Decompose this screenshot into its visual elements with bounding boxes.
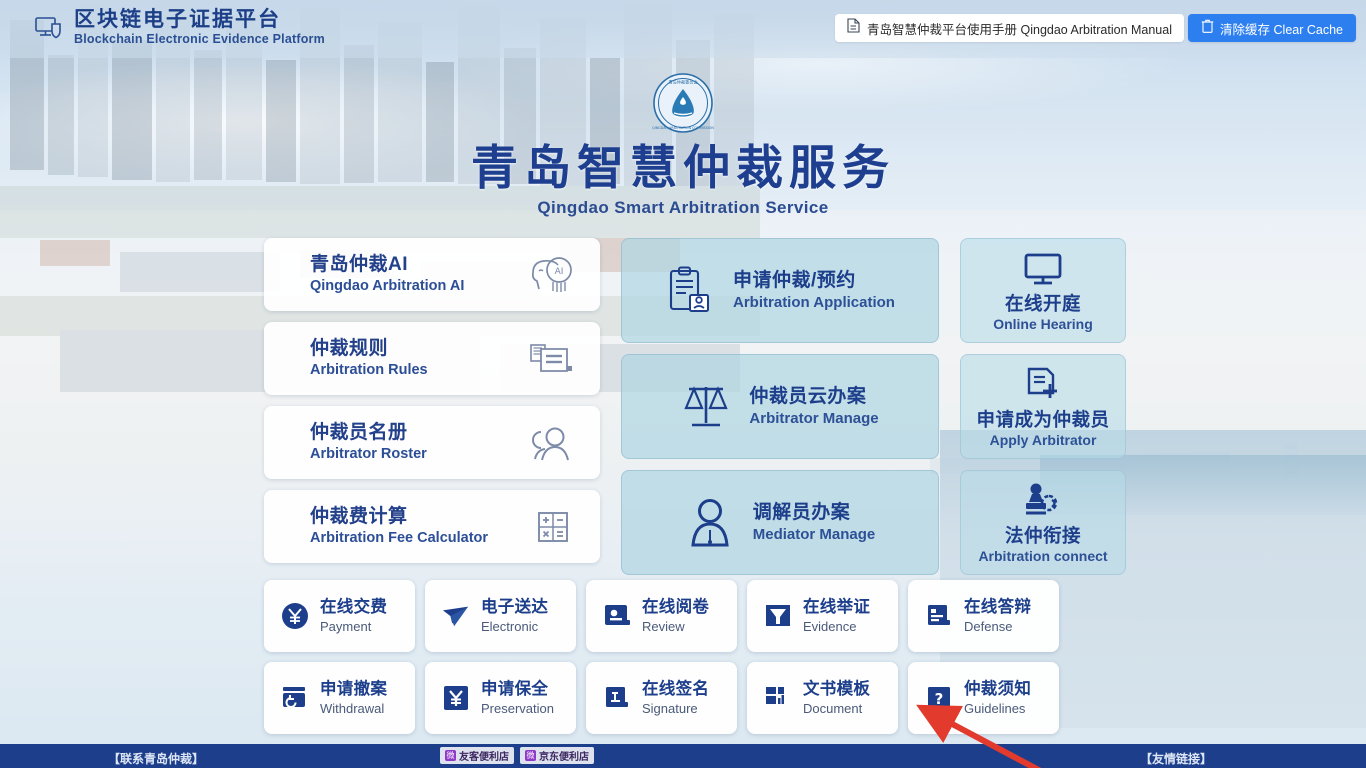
card-title-cn: 在线交费 [320, 598, 387, 616]
card-title-en: Arbitration Rules [310, 362, 428, 378]
card-title-en: Arbitration connect [978, 547, 1107, 565]
card-title-en: Arbitrator Roster [310, 446, 427, 462]
card-arbitration-application[interactable]: 申请仲裁/预约 Arbitration Application [621, 238, 939, 343]
footer-chip-label: 友客便利店 [459, 748, 509, 763]
file-review-icon [603, 602, 631, 630]
svg-text:?: ? [935, 690, 944, 708]
manual-button[interactable]: 青岛智慧仲裁平台使用手册 Qingdao Arbitration Manual [835, 14, 1184, 42]
card-arbitrator-manage[interactable]: 仲裁员云办案 Arbitrator Manage [621, 354, 939, 459]
card-arbitrator-roster[interactable]: 仲裁员名册 Arbitrator Roster [264, 406, 600, 479]
brand-title-en: Blockchain Electronic Evidence Platform [74, 31, 325, 47]
card-title-en: Preservation [481, 701, 554, 716]
card-title-cn: 仲裁员云办案 [749, 386, 866, 407]
card-title-en: Document [803, 701, 862, 716]
yuan-circle-icon [281, 602, 309, 630]
card-title-en: Evidence [803, 619, 856, 634]
card-arbitration-rules[interactable]: 仲裁规则 Arbitration Rules [264, 322, 600, 395]
card-qingdao-arbitration-ai[interactable]: 青岛仲裁AI Qingdao Arbitration AI AI [264, 238, 600, 311]
quick-action-row-2: 申请撤案 Withdrawal 申请保全 Preservatio [264, 662, 1109, 734]
mediator-person-icon [685, 497, 735, 549]
question-mark-icon: ? [925, 684, 953, 712]
clear-cache-button[interactable]: 清除缓存 Clear Cache [1188, 14, 1356, 42]
card-title-cn: 申请仲裁/预约 [733, 270, 856, 291]
card-title-en: Signature [642, 701, 698, 716]
left-card-column: 青岛仲裁AI Qingdao Arbitration AI AI [264, 238, 600, 574]
svg-text:QINGDAO ARBITRATION COMMISSION: QINGDAO ARBITRATION COMMISSION [652, 126, 714, 130]
document-icon [847, 18, 860, 38]
app-root: 区块链电子证据平台 Blockchain Electronic Evidence… [0, 0, 1366, 768]
card-title-en: Arbitration Application [733, 294, 895, 311]
card-title-en: Apply Arbitrator [990, 431, 1097, 449]
card-evidence[interactable]: 在线举证 Evidence [747, 580, 898, 652]
card-title-cn: 在线答辩 [964, 598, 1031, 616]
card-title-cn: 调解员办案 [753, 502, 851, 523]
brand-text: 区块链电子证据平台 Blockchain Electronic Evidence… [74, 8, 325, 47]
page-title-cn: 青岛智慧仲裁服务 [0, 142, 1366, 194]
footer-chip-row: 微 友客便利店 微 京东便利店 [440, 747, 594, 764]
card-title-en: Defense [964, 619, 1012, 634]
clear-cache-label: 清除缓存 Clear Cache [1220, 19, 1343, 38]
card-title-en: Withdrawal [320, 701, 384, 716]
page-title-en: Qingdao Smart Arbitration Service [0, 198, 1366, 218]
card-title-cn: 电子送达 [481, 598, 548, 616]
people-roster-icon [526, 422, 578, 464]
card-title-cn: 仲裁须知 [964, 680, 1031, 698]
clipboard-stamp-icon [665, 265, 715, 317]
card-title-cn: 在线签名 [642, 680, 709, 698]
manual-button-label: 青岛智慧仲裁平台使用手册 Qingdao Arbitration Manual [867, 19, 1172, 38]
monitor-icon [1021, 248, 1065, 288]
brand: 区块链电子证据平台 Blockchain Electronic Evidence… [34, 8, 325, 47]
footer-contact-label[interactable]: 【联系青岛仲裁】 [108, 750, 204, 767]
card-title-en: Payment [320, 619, 371, 634]
card-title-en: Review [642, 619, 685, 634]
footer-bar: 【联系青岛仲裁】 微 友客便利店 微 京东便利店 【友情链接】 [0, 744, 1366, 768]
right-card-column: 在线开庭 Online Hearing 申请成为仲裁员 Apply Arbitr… [960, 238, 1126, 586]
card-payment[interactable]: 在线交费 Payment [264, 580, 415, 652]
document-plus-icon [1023, 364, 1063, 404]
card-mediator-manage[interactable]: 调解员办案 Mediator Manage [621, 470, 939, 575]
card-preservation[interactable]: 申请保全 Preservation [425, 662, 576, 734]
app-header: 区块链电子证据平台 Blockchain Electronic Evidence… [0, 0, 1366, 58]
card-title-cn: 青岛仲裁AI [310, 254, 408, 275]
card-arbitration-connect[interactable]: 法仲衔接 Arbitration connect [960, 470, 1126, 575]
card-title-cn: 申请成为仲裁员 [976, 408, 1109, 431]
stamp-link-icon [1021, 480, 1065, 520]
middle-card-column: 申请仲裁/预约 Arbitration Application 仲裁员云办案 [621, 238, 939, 586]
card-title-en: Arbitrator Manage [749, 410, 878, 427]
card-document-template[interactable]: 文书模板 Document [747, 662, 898, 734]
card-title-en: Electronic [481, 619, 538, 634]
card-title-cn: 申请撤案 [320, 680, 387, 698]
card-title-cn: 申请保全 [481, 680, 548, 698]
qingdao-arbitration-commission-seal: 青岛仲裁委员会 QINGDAO ARBITRATION COMMISSION [652, 72, 714, 134]
card-signature[interactable]: 在线签名 Signature [586, 662, 737, 734]
calculator-icon [526, 506, 578, 548]
card-withdrawal[interactable]: 申请撤案 Withdrawal [264, 662, 415, 734]
card-guidelines[interactable]: ? 仲裁须知 Guidelines [908, 662, 1059, 734]
card-defense[interactable]: 在线答辩 Defense [908, 580, 1059, 652]
funnel-evidence-icon [764, 602, 792, 630]
card-title-en: Qingdao Arbitration AI [310, 278, 464, 294]
card-title-cn: 在线阅卷 [642, 598, 709, 616]
scales-of-justice-icon [681, 381, 731, 433]
wechat-badge-icon: 微 [445, 750, 456, 761]
paper-plane-icon [442, 602, 470, 630]
card-title-cn: 在线开庭 [1005, 292, 1081, 315]
card-title-cn: 仲裁规则 [310, 338, 388, 359]
quick-action-row-1: 在线交费 Payment 电子送达 Electronic [264, 580, 1109, 652]
brand-title-cn: 区块链电子证据平台 [74, 8, 325, 31]
quick-action-rows: 在线交费 Payment 电子送达 Electronic [264, 580, 1109, 744]
card-online-hearing[interactable]: 在线开庭 Online Hearing [960, 238, 1126, 343]
withdraw-case-icon [281, 684, 309, 712]
ai-brain-icon: AI [526, 254, 578, 296]
card-review[interactable]: 在线阅卷 Review [586, 580, 737, 652]
footer-links-label[interactable]: 【友情链接】 [1140, 750, 1212, 767]
template-grid-icon [764, 684, 792, 712]
card-electronic-service[interactable]: 电子送达 Electronic [425, 580, 576, 652]
card-title-cn: 文书模板 [803, 680, 870, 698]
card-title-en: Guidelines [964, 701, 1025, 716]
signature-icon [603, 684, 631, 712]
rules-document-icon [526, 338, 578, 380]
card-title-en: Online Hearing [993, 315, 1093, 333]
footer-chip[interactable]: 微 京东便利店 [520, 747, 594, 764]
trash-icon [1201, 19, 1214, 38]
monitor-shield-icon [34, 14, 64, 42]
svg-text:AI: AI [555, 267, 564, 277]
card-title-cn: 法仲衔接 [1005, 524, 1081, 547]
card-title-cn: 在线举证 [803, 598, 870, 616]
card-apply-arbitrator[interactable]: 申请成为仲裁员 Apply Arbitrator [960, 354, 1126, 459]
wechat-badge-icon: 微 [525, 750, 536, 761]
yuan-square-icon [442, 684, 470, 712]
card-title-en: Mediator Manage [753, 526, 876, 543]
card-title-cn: 仲裁员名册 [310, 422, 408, 443]
hero: 青岛仲裁委员会 QINGDAO ARBITRATION COMMISSION 青… [0, 72, 1366, 218]
footer-chip[interactable]: 微 友客便利店 [440, 747, 514, 764]
card-title-cn: 仲裁费计算 [310, 506, 408, 527]
footer-chip-label: 京东便利店 [539, 748, 589, 763]
card-arbitration-fee-calculator[interactable]: 仲裁费计算 Arbitration Fee Calculator [264, 490, 600, 563]
defense-document-icon [925, 602, 953, 630]
svg-text:青岛仲裁委员会: 青岛仲裁委员会 [668, 79, 698, 86]
card-title-en: Arbitration Fee Calculator [310, 530, 488, 546]
